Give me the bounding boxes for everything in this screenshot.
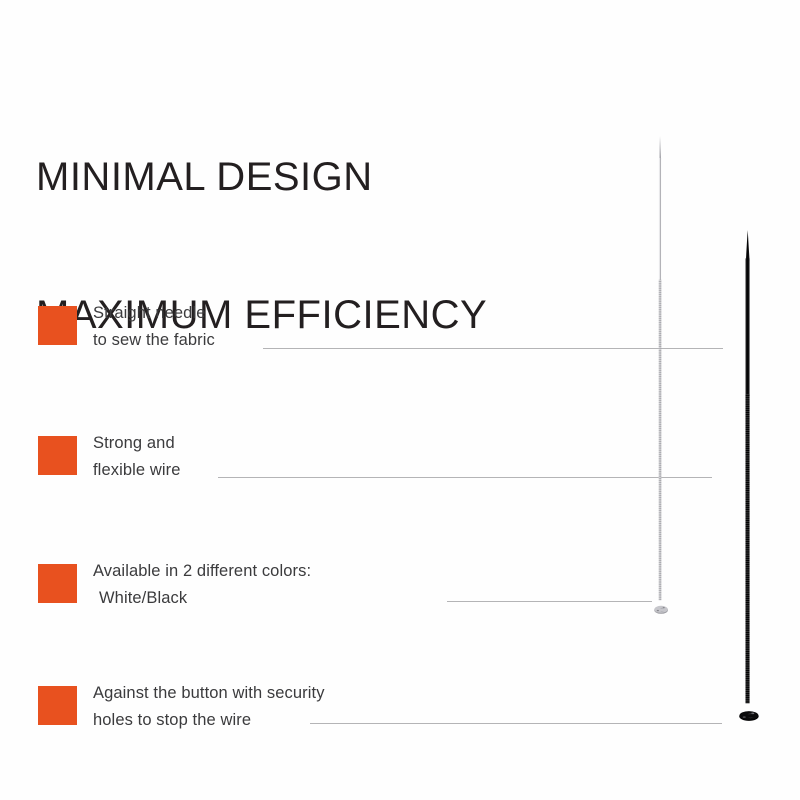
leader-line-2 <box>218 477 712 478</box>
white-needle-tip <box>659 136 661 159</box>
headline-line-1: MINIMAL DESIGN <box>36 154 487 200</box>
page-title: MINIMAL DESIGN MAXIMUM EFFICIENCY <box>36 62 487 430</box>
feature-3-line-2: White/Black <box>93 585 311 612</box>
disc-hole-round-left <box>657 610 659 611</box>
feature-label: Strong and flexible wire <box>93 430 181 484</box>
bullet-square-icon <box>38 436 77 475</box>
leader-line-4 <box>310 723 722 724</box>
feature-4-line-2: holes to stop the wire <box>93 707 325 734</box>
feature-2-line-2: flexible wire <box>93 457 181 484</box>
white-needle-threaded-shaft <box>659 280 662 600</box>
feature-1-line-2: to sew the fabric <box>93 327 215 354</box>
black-needle-product-image <box>737 228 759 738</box>
white-needle-product-image <box>652 134 668 634</box>
disc-hole-round-left <box>743 716 746 718</box>
bullet-square-icon <box>38 306 77 345</box>
feature-label: Straight needle to sew the fabric <box>93 300 215 354</box>
black-needle-shaft <box>745 258 749 396</box>
feature-4-line-1: Against the button with security <box>93 680 325 707</box>
leader-line-3 <box>447 601 652 602</box>
feature-3-line-1: Available in 2 different colors: <box>93 558 311 585</box>
white-needle-shaft <box>659 158 661 282</box>
bullet-square-icon <box>38 564 77 603</box>
black-needle-tip <box>746 230 750 260</box>
black-needle-threaded-shaft <box>745 394 749 703</box>
bullet-square-icon <box>38 686 77 725</box>
black-needle-base-disc <box>739 711 758 721</box>
product-feature-infographic: MINIMAL DESIGN MAXIMUM EFFICIENCY Straig… <box>0 0 800 800</box>
feature-1-line-1: Straight needle <box>93 300 215 327</box>
feature-2-line-1: Strong and <box>93 430 181 457</box>
feature-label: Available in 2 different colors: White/B… <box>93 558 311 612</box>
feature-label: Against the button with security holes t… <box>93 680 325 734</box>
